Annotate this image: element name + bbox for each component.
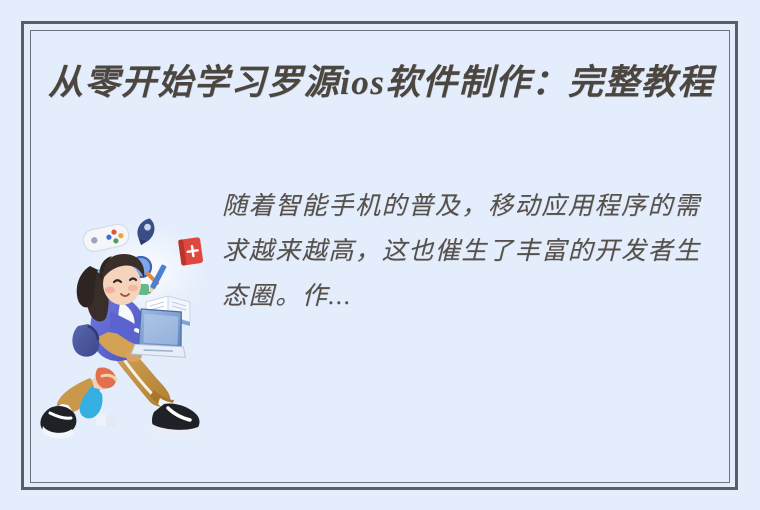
- article-card: 从零开始学习罗源ios软件制作：完整教程 随着智能手机的普及，移动应用程序的需求…: [0, 0, 760, 510]
- article-title: 从零开始学习罗源ios软件制作：完整教程: [48, 58, 714, 107]
- floor-props: [96, 414, 117, 427]
- article-excerpt: 随着智能手机的普及，移动应用程序的需求越来越高，这也催生了丰富的开发者生态圈。作…: [222, 184, 718, 319]
- red-card-plus-icon: [178, 237, 203, 266]
- student-walking-with-laptop-illustration: [38, 208, 218, 448]
